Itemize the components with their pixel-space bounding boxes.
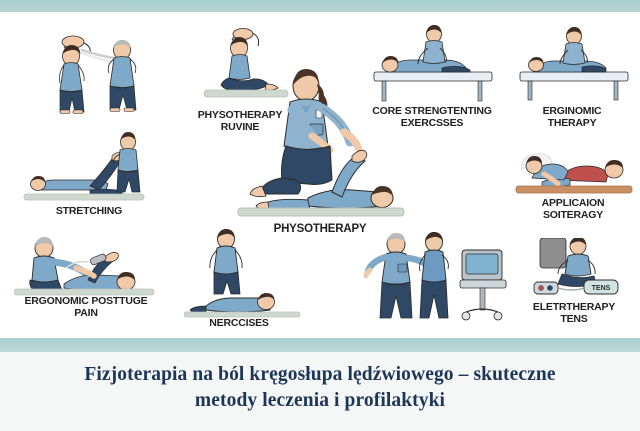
panel-physotherapy-main: PHYSOTHERAPY xyxy=(232,58,408,236)
panel-ergonomic-posttuge-pain: ERGONOMIC POSTTUGE PAIN xyxy=(6,234,166,334)
svg-text:TENS: TENS xyxy=(592,285,611,292)
supine-table-illustration xyxy=(512,22,634,102)
towel-stretch-illustration xyxy=(18,14,158,114)
caption-erginomic-therapy: ERGINOMIC THERAPY xyxy=(508,106,636,129)
panel-clinic-equipment xyxy=(362,228,510,328)
panel-eletrtherapy-tens: TENS ELETRTHERAPY TENS xyxy=(512,238,636,334)
caption-applicaion-soiteragy: APPLICAION SOITERAGY xyxy=(510,198,636,221)
caption-nerccises: NERCCISES xyxy=(174,318,304,330)
panel-erginomic-therapy: ERGINOMIC THERAPY xyxy=(508,22,636,142)
poster-title-line-2: metody leczenia i profilaktyki xyxy=(195,390,445,411)
top-accent-band xyxy=(0,0,640,12)
clinic-equipment-illustration xyxy=(362,228,510,326)
footer-bar: Fizjoterapia na ból kręgosłupa lędźwiowe… xyxy=(0,352,640,431)
panel-towel-stretch xyxy=(18,14,158,114)
leg-stretch-illustration xyxy=(20,128,160,204)
caption-stretching: STRETCHING xyxy=(14,206,164,218)
bottom-accent-band xyxy=(0,338,640,352)
massage-table-illustration xyxy=(514,140,634,196)
tens-device: TENS xyxy=(584,280,618,294)
device-therapy-illustration xyxy=(14,234,159,296)
standing-and-supine-illustration xyxy=(184,226,302,318)
caption-ergonomic-posttuge-pain: ERGONOMIC POSTTUGE PAIN xyxy=(6,296,166,319)
poster-root: PHYSOTHERAPY RUVINE CORE ST xyxy=(0,0,640,431)
poster-title-line-1: Fizjoterapia na ból kręgosłupa lędźwiowe… xyxy=(84,364,555,385)
tens-therapy-illustration: TENS xyxy=(518,238,634,300)
kneeling-therapist-illustration xyxy=(232,58,408,220)
panel-nerccises: NERCCISES xyxy=(174,226,304,330)
panel-stretching: STRETCHING xyxy=(14,128,164,228)
caption-eletrtherapy-tens: ELETRTHERAPY TENS xyxy=(512,302,636,325)
panel-applicaion-soiteragy: APPLICAION SOITERAGY xyxy=(510,140,636,225)
poster-title: Fizjoterapia na ból kręgosłupa lędźwiowe… xyxy=(30,362,610,414)
